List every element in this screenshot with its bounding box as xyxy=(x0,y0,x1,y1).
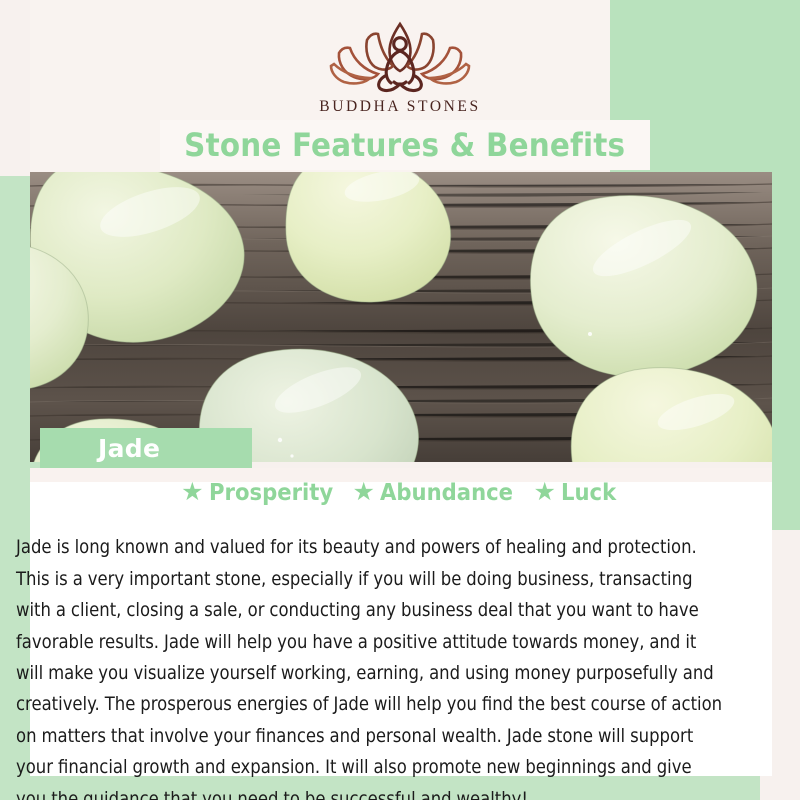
lotus-meditation-icon xyxy=(326,18,474,94)
star-icon: ★ xyxy=(352,480,374,505)
infographic-page: BUDDHA STONES xyxy=(0,0,800,800)
benefit-label: Luck xyxy=(561,480,616,506)
page-title: Stone Features & Benefits xyxy=(184,126,625,164)
brand-name: BUDDHA STONES xyxy=(0,98,800,116)
stone-photo-illustration xyxy=(30,172,772,462)
star-icon: ★ xyxy=(181,480,203,505)
star-icon: ★ xyxy=(534,480,556,505)
benefit-label: Prosperity xyxy=(209,480,333,506)
section-title-banner: Stone Features & Benefits xyxy=(160,120,650,170)
benefit-item-luck: ★ Luck xyxy=(534,480,621,506)
benefit-label: Abundance xyxy=(380,480,513,506)
stone-description: Jade is long known and valued for its be… xyxy=(16,532,723,800)
benefit-item-prosperity: ★ Prosperity xyxy=(181,480,343,506)
benefit-item-abundance: ★ Abundance xyxy=(352,480,524,506)
stone-name-band: Jade xyxy=(40,428,252,468)
benefits-row: ★ Prosperity ★ Abundance ★ Luck xyxy=(30,480,772,506)
stone-photo xyxy=(30,172,772,462)
brand-logo: BUDDHA STONES xyxy=(0,18,800,116)
content-area: ★ Prosperity ★ Abundance ★ Luck Jade is … xyxy=(30,468,772,776)
stone-name: Jade xyxy=(98,434,160,463)
